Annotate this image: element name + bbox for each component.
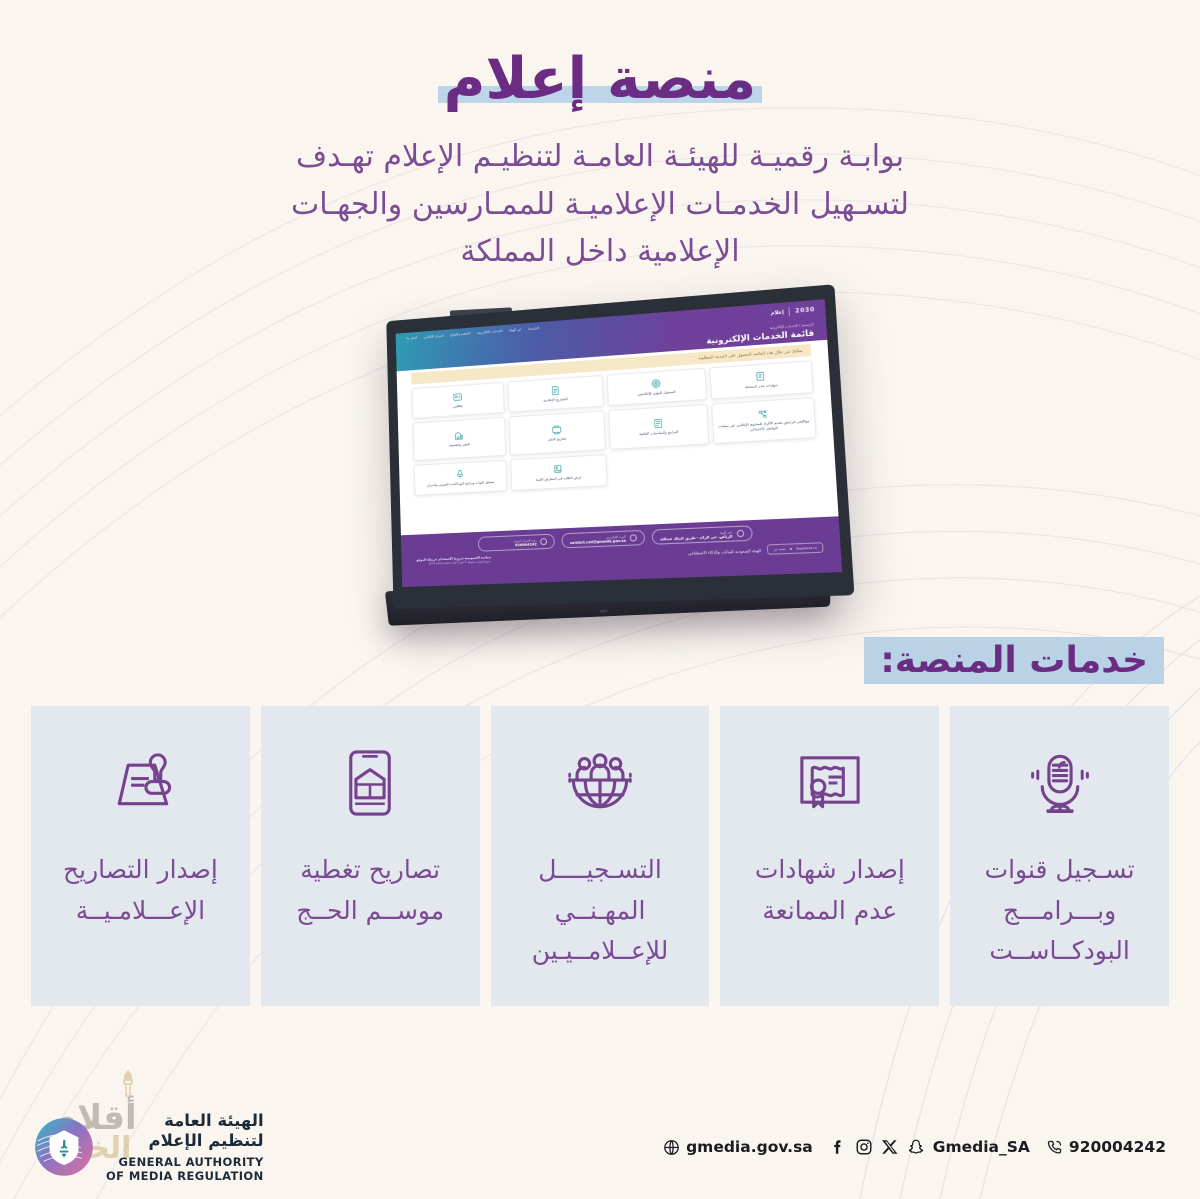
- nav-item-about[interactable]: عن الهيئة: [509, 328, 522, 333]
- nav-item-eservices[interactable]: الخدمات الإلكترونية: [477, 329, 503, 335]
- screen-service-card[interactable]: بطاقتي: [412, 382, 505, 419]
- screen-service-card[interactable]: التصاريح الإعلامية: [507, 375, 604, 413]
- service-label-line-1: تصاريح تغطية: [300, 855, 440, 884]
- screen-contact-location[interactable]: مقر الهيئة الرياض، حي الرائد - طريق المل…: [652, 526, 753, 546]
- contact-value: 920004242: [486, 543, 537, 549]
- people-globe-icon: [563, 746, 637, 820]
- screen-service-label: تصاريح النشر: [548, 437, 567, 443]
- screen-body: يمكنك من خلال هذه القائمة الحصول على الخ…: [397, 340, 839, 536]
- authority-arabic-line-2: لتنظيم الإعلام: [106, 1131, 264, 1151]
- copyright-text: جميع الحقوق محفوظة © الهيئة العامة لتنظي…: [416, 560, 491, 567]
- service-label-line-3: البودكــاســت: [989, 936, 1129, 965]
- podcast-icon: [455, 469, 466, 480]
- website-text: gmedia.gov.sa: [686, 1138, 813, 1156]
- torch-icon: [118, 1068, 138, 1102]
- publish-icon: [551, 424, 562, 435]
- registered-label: Registered on: [796, 546, 817, 551]
- services-heading: خدمات المنصة:: [880, 640, 1148, 681]
- laptop-screen: الرئيسية عن الهيئة الخدمات الإلكترونية ا…: [396, 300, 842, 588]
- subtitle-line-2: لتسـهيل الخدمـات الإعلاميـة للممـارسين و…: [255, 181, 945, 228]
- screen-service-label: النشر والتصنيف: [448, 442, 469, 448]
- subtitle: بوابـة رقميـة للهيئـة العامـة لتنظيـم ال…: [255, 133, 945, 275]
- screen-service-card[interactable]: تسجيل قنوات وبرامج البودكاست الصوتي والم…: [414, 460, 508, 496]
- program-icon: [652, 418, 664, 430]
- service-card-hajj-coverage[interactable]: تصاريح تغطية موســم الحــج: [261, 706, 480, 1006]
- certificate-icon: [793, 746, 867, 820]
- social-icons-group: Gmedia_SA: [829, 1138, 1030, 1156]
- accredited-label: معتمد من: [774, 547, 786, 552]
- phone-item[interactable]: 920004242: [1046, 1138, 1166, 1156]
- card-icon: [452, 392, 463, 403]
- service-card-media-permits[interactable]: إصدار التصاريح الإعـــلامـيــة: [31, 706, 250, 1006]
- social-handle-text: Gmedia_SA: [933, 1138, 1030, 1156]
- permit-icon: [550, 385, 561, 396]
- service-label-line-1: إصدار شهادات: [755, 855, 905, 884]
- mail-icon: [630, 535, 637, 542]
- screen-service-card[interactable]: النشر والتصنيف: [413, 417, 507, 461]
- x-twitter-icon[interactable]: [881, 1138, 899, 1156]
- service-label: إصدار التصاريح الإعـــلامـيــة: [63, 850, 218, 931]
- phone-icon: [540, 539, 547, 546]
- phone-icon: [1046, 1139, 1063, 1156]
- fingerprint-icon: [650, 378, 662, 390]
- stamp-icon: [103, 746, 177, 820]
- screen-service-label: موافقتي لترخيص تقديم الأفراد للمحتوى الإ…: [715, 420, 812, 435]
- service-label: التسـجيــــل المهـنــي للإعــلامــيـين: [532, 850, 669, 972]
- instagram-icon[interactable]: [855, 1138, 873, 1156]
- logo-divider: [789, 308, 791, 317]
- service-label-line-1: إصدار التصاريح: [63, 855, 218, 884]
- subtitle-line-1: بوابـة رقميـة للهيئـة العامـة لتنظيـم ال…: [255, 133, 945, 180]
- screen-nav: الرئيسية عن الهيئة الخدمات الإلكترونية ا…: [407, 326, 540, 340]
- screen-service-card[interactable]: البرامج والمناسبات الخاصة: [608, 404, 709, 450]
- vision-2030-logo: 2030: [795, 307, 815, 316]
- certificate-icon: [755, 371, 767, 383]
- page-title: منصة إعلام: [444, 44, 757, 115]
- website-item[interactable]: gmedia.gov.sa: [663, 1138, 813, 1156]
- screen-footer-legal: سياسة الخصوصية شروط الاستخدام خريطة المو…: [416, 556, 491, 567]
- snapchat-icon[interactable]: [907, 1138, 925, 1156]
- screen-contact-email[interactable]: البريد الإلكتروني contact.call@gmedia.go…: [562, 530, 645, 549]
- authority-english-line-1: GENERAL AUTHORITY: [106, 1155, 264, 1169]
- location-icon: [736, 530, 744, 538]
- social-icon: [757, 409, 769, 421]
- contact-value: contact.call@gmedia.gov.sa: [570, 539, 626, 545]
- title-wrapper: منصة إعلام: [434, 44, 767, 115]
- service-card-noc-certificates[interactable]: إصدار شهادات عدم الممانعة: [720, 706, 939, 1006]
- poster-root: منصة إعلام بوابـة رقميـة للهيئـة العامـة…: [0, 0, 1200, 1199]
- authority-arabic-line-1: الهيئة العامة: [106, 1111, 264, 1131]
- service-label-line-2: موســم الحــج: [296, 896, 444, 925]
- screen-service-label: التصاريح الإعلامية: [543, 397, 567, 403]
- screen-service-label: تسجيل قنوات وبرامج البودكاست الصوتي والم…: [427, 480, 495, 488]
- phone-text: 920004242: [1069, 1138, 1166, 1156]
- screen-service-card[interactable]: شهادات عدم الممانعة: [709, 360, 813, 399]
- laptop-mockup-area: الرئيسية عن الهيئة الخدمات الإلكترونية ا…: [0, 293, 1200, 623]
- screen-brand-logos: 2030 إعلام: [770, 306, 815, 319]
- grid-spacer: [610, 442, 819, 486]
- authority-logo-text: الهيئة العامة لتنظيم الإعلام GENERAL AUT…: [106, 1111, 264, 1183]
- screen-footer-badges: Registered on ◆ معتمد من الهيئة السعودية…: [688, 543, 824, 559]
- badge-mark-icon: ◆: [790, 547, 793, 551]
- laptop-device: الرئيسية عن الهيئة الخدمات الإلكترونية ا…: [340, 293, 860, 623]
- nav-item-media-center[interactable]: المركز الإعلامي: [423, 334, 443, 339]
- poster-footer: gmedia.gov.sa Gmedia_SA: [0, 1103, 1200, 1199]
- exhibit-icon: [553, 464, 564, 475]
- service-label-line-2: المهـنــي: [555, 896, 646, 925]
- laptop-lid: الرئيسية عن الهيئة الخدمات الإلكترونية ا…: [386, 285, 854, 610]
- nav-item-contact[interactable]: اتصل بنا: [407, 336, 418, 341]
- screen-service-label: البرامج والمناسبات الخاصة: [639, 430, 678, 437]
- mobile-kaaba-icon: [333, 746, 407, 820]
- services-heading-row: خدمات المنصة:: [0, 635, 1200, 688]
- screen-service-label: بطاقتي: [453, 404, 463, 409]
- screen-service-label: شهادات عدم الممانعة: [745, 383, 778, 390]
- globe-icon: [663, 1139, 680, 1156]
- contact-bar: gmedia.gov.sa Gmedia_SA: [663, 1138, 1166, 1156]
- authority-english-line-2: OF MEDIA REGULATION: [106, 1169, 264, 1183]
- screen-service-card[interactable]: عرض الطلب في المعارض الفنية: [510, 454, 607, 491]
- screen-service-label: التسجيل المهني للإعلاميين: [638, 390, 676, 397]
- sdaia-mark: الهيئة السعودية للبيانات والذكاء الاصطنا…: [688, 548, 761, 556]
- service-label: تسـجيل قنوات وبـــرامـــج البودكــاســت: [985, 850, 1135, 972]
- service-card-professional-registration[interactable]: التسـجيــــل المهـنــي للإعــلامــيـين: [491, 706, 710, 1006]
- facebook-icon[interactable]: [829, 1138, 847, 1156]
- service-label-line-3: للإعــلامــيـين: [532, 936, 669, 965]
- service-label: إصدار شهادات عدم الممانعة: [755, 850, 905, 931]
- service-label-line-1: تسـجيل قنوات: [985, 855, 1135, 884]
- subtitle-line-3: الإعلامية داخل المملكة: [255, 228, 945, 275]
- classify-icon: [454, 430, 465, 441]
- poster-header: منصة إعلام بوابـة رقميـة للهيئـة العامـة…: [0, 0, 1200, 275]
- nav-item-regulations[interactable]: الأنظمة واللوائح: [450, 332, 471, 337]
- service-card-podcast[interactable]: تسـجيل قنوات وبـــرامـــج البودكــاســت: [950, 706, 1169, 1006]
- services-grid: تسـجيل قنوات وبـــرامـــج البودكــاســت …: [0, 706, 1200, 1006]
- nav-item-home[interactable]: الرئيسية: [528, 326, 539, 331]
- authority-logo-small: إعلام: [771, 310, 784, 317]
- screen-service-card[interactable]: التسجيل المهني للإعلاميين: [607, 368, 707, 406]
- screen-contact-phone[interactable]: رقم الاتصال الموحد 920004242: [478, 534, 555, 552]
- service-label-line-2: الإعـــلامـيــة: [76, 896, 205, 925]
- service-label-line-2: وبـــرامـــج: [1003, 896, 1116, 925]
- service-label-line-2: عدم الممانعة: [762, 896, 897, 925]
- services-heading-wrapper: خدمات المنصة:: [864, 635, 1164, 688]
- screen-service-label: عرض الطلب في المعارض الفنية: [536, 476, 582, 483]
- service-label-line-1: التسـجيــــل: [538, 855, 662, 884]
- microphone-icon: [1023, 746, 1097, 820]
- service-label: تصاريح تغطية موســم الحــج: [296, 850, 444, 931]
- authority-emblem-icon: [34, 1117, 94, 1177]
- screen-service-card[interactable]: تصاريح النشر: [509, 410, 606, 455]
- screen-service-card[interactable]: موافقتي لترخيص تقديم الأفراد للمحتوى الإ…: [711, 397, 816, 444]
- registered-badge: Registered on ◆ معتمد من: [767, 543, 824, 556]
- authority-logo: الهيئة العامة لتنظيم الإعلام GENERAL AUT…: [34, 1111, 264, 1183]
